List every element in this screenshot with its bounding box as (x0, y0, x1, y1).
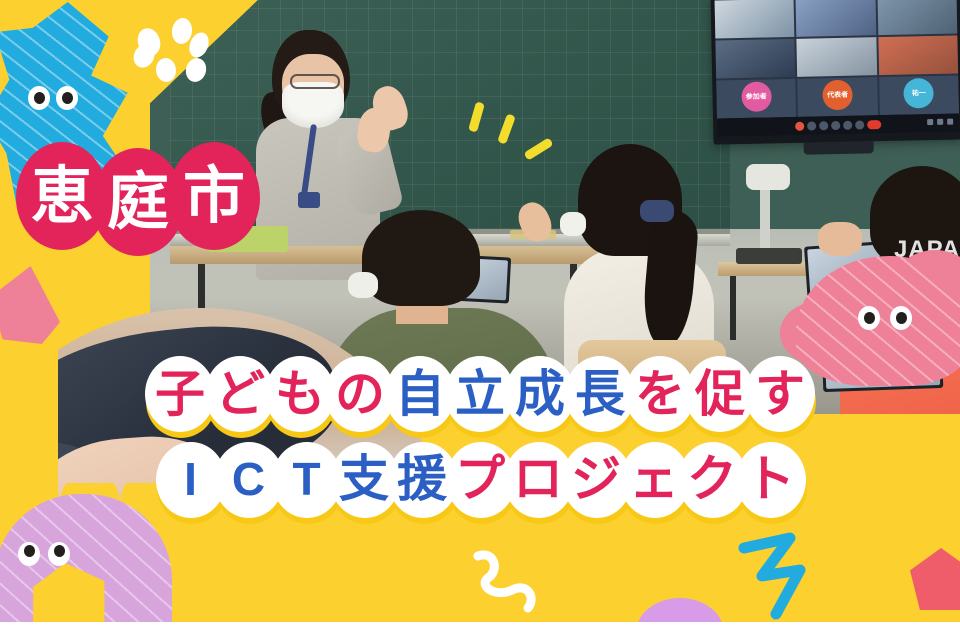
blue-blob-eyes (28, 86, 78, 110)
id-badge (298, 192, 320, 208)
title-char-text: 支 (339, 454, 389, 504)
video-tile-avatar: 代表者 (798, 77, 878, 117)
title-char-text: 成 (515, 369, 565, 419)
title-line-2: I C T 支 援 プ ロ ジ ェ ク ト (0, 438, 960, 520)
fullscreen-icon[interactable] (947, 119, 953, 125)
title-char-text: も (275, 369, 325, 419)
face-mask-icon (348, 272, 378, 298)
chat-icon[interactable] (843, 120, 852, 129)
pink-cloud-eyes (858, 306, 912, 330)
sparkle-icon (155, 57, 177, 83)
eye-icon (858, 306, 880, 330)
title-char-text: ど (215, 369, 265, 419)
title-char-text: C (232, 456, 264, 502)
title-char: ト (734, 438, 806, 520)
layout-icon[interactable] (937, 119, 943, 125)
video-tile (715, 39, 795, 79)
title-char-text: プ (455, 454, 505, 504)
participant-avatar: 祐一 (904, 78, 935, 109)
zigzag-icon (738, 532, 822, 620)
student-hand (818, 222, 862, 256)
purple-arch-eyes (18, 542, 70, 566)
title-char-text: 自 (395, 369, 445, 419)
participant-avatar: 参加者 (741, 82, 772, 113)
title-line-1: 子 ど も の 自 立 成 長 を 促 す (0, 352, 960, 436)
video-tile-avatar: 参加者 (716, 79, 796, 119)
video-tile-avatar: 祐一 (879, 75, 959, 115)
more-options-icon[interactable] (855, 120, 864, 129)
student-hair (362, 210, 480, 306)
city-badge-char: 市 (168, 142, 260, 250)
video-conference-grid: 参加者 代表者 祐一 (715, 0, 959, 119)
title-char-text: ジ (571, 454, 621, 504)
title-char-text: ェ (629, 454, 679, 504)
participant-avatar: 代表者 (822, 80, 853, 111)
banner-root: JAPAN 参加者 代表者 祐一 (0, 0, 960, 640)
eye-icon (28, 86, 50, 110)
desk-leg (730, 276, 736, 340)
eye-icon (18, 542, 40, 566)
document-camera-base (736, 248, 802, 264)
eye-icon (56, 86, 78, 110)
bottom-white-margin (0, 622, 960, 640)
title-char-text: 援 (397, 454, 447, 504)
eye-icon (890, 306, 912, 330)
video-tile (796, 0, 876, 37)
wall-monitor: 参加者 代表者 祐一 (710, 0, 960, 145)
end-call-icon[interactable] (867, 120, 881, 129)
face-mask-icon (560, 212, 586, 236)
title-char-text: 子 (155, 369, 205, 419)
document-camera-head (746, 164, 790, 190)
curl-icon (470, 548, 550, 614)
participants-icon[interactable] (831, 120, 840, 129)
glasses-icon (290, 74, 340, 89)
title-char-text: ト (745, 454, 795, 504)
title-char-text: を (635, 369, 685, 419)
monitor-stand (804, 141, 874, 154)
mic-icon[interactable] (795, 121, 804, 130)
eye-icon (48, 542, 70, 566)
video-tile (715, 0, 795, 39)
video-tile (797, 37, 877, 77)
camera-icon[interactable] (807, 121, 816, 130)
title-char-text: ロ (513, 454, 563, 504)
settings-icon[interactable] (927, 119, 933, 125)
toolbar-right-icons (927, 119, 953, 126)
page-title: 子 ど も の 自 立 成 長 を 促 す I C T 支 援 プ ロ ジ ェ … (0, 352, 960, 522)
video-tile (878, 35, 958, 75)
title-char-text: T (292, 456, 319, 502)
title-char-text: ク (687, 454, 737, 504)
hair-tie (640, 200, 674, 222)
title-char-text: 促 (695, 369, 745, 419)
video-call-toolbar (717, 113, 959, 136)
share-screen-icon[interactable] (819, 121, 828, 130)
title-char-text: I (184, 456, 196, 502)
title-char-text: 長 (575, 369, 625, 419)
title-char-text: の (335, 369, 385, 419)
video-tile (877, 0, 957, 35)
title-char-text: す (755, 369, 805, 419)
title-char-text: 立 (455, 369, 505, 419)
title-char: す (743, 352, 817, 436)
city-badge: 恵 庭 市 (16, 142, 244, 250)
